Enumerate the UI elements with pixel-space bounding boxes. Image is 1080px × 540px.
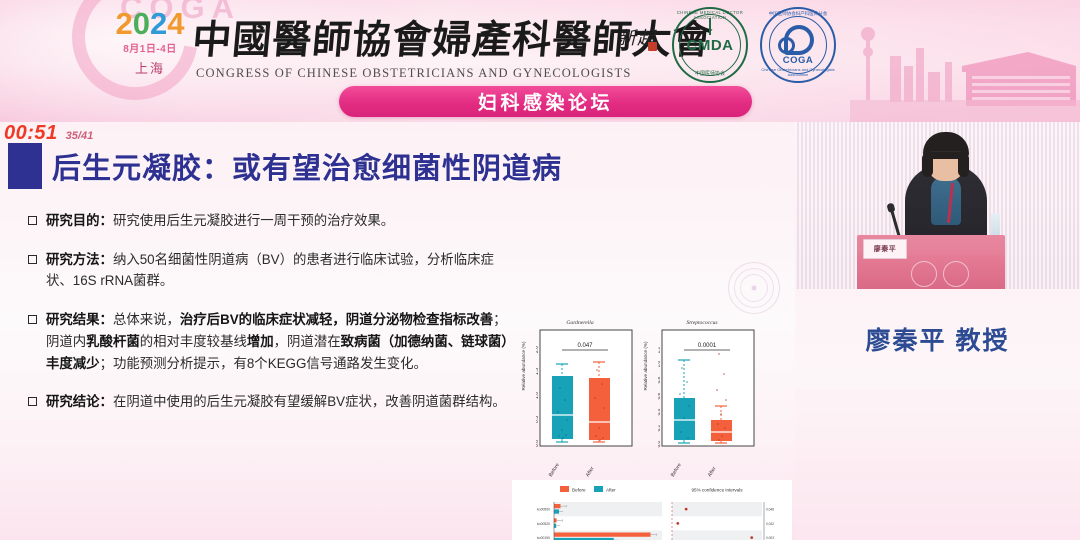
boxplot-gardnerella-title: Gardnerella: [520, 320, 640, 326]
svg-text:0.4: 0.4: [658, 409, 661, 416]
boxplot-streptococcus-title: Streptococcus: [642, 320, 762, 326]
bullet-square-icon: [28, 216, 37, 225]
bullet-label: 研究方法：: [46, 252, 113, 267]
bullet-emphasis: 治疗后BV的临床症状减轻，阴道分泌物检查指标改善: [180, 312, 493, 327]
speaker-glasses-icon: [931, 151, 961, 159]
year-logo: 2024 8月1日-4日 上海: [104, 8, 196, 77]
forum-title-text: 妇科感染论坛: [478, 88, 613, 115]
asclepius-rod-icon: [709, 18, 711, 35]
svg-text:0.0001: 0.0001: [698, 343, 717, 349]
svg-text:Before: Before: [572, 488, 586, 493]
cmda-logo: CHINESE MEDICAL DOCTOR ASSOCIATION CMDA …: [672, 7, 748, 83]
svg-text:After: After: [606, 488, 616, 493]
cmda-arc-bottom: 中国医师协会: [672, 70, 748, 77]
podium-nameplate-text: 廖秦平: [874, 244, 897, 254]
bullet-text: 研究目的：研究使用后生元凝胶进行一周干预的治疗效果。: [46, 210, 394, 232]
bullet-segment: ；功能预测分析提示，有8个KEGG信号通路发生变化。: [100, 356, 427, 371]
svg-text:1.0: 1.0: [536, 392, 540, 399]
slide-area: 00:51 35/41 后生元凝胶：或有望治愈细菌性阴道病 研究目的：研究使用后…: [0, 122, 795, 540]
bullet-segment: 研究使用后生元凝胶进行一周干预的治疗效果。: [113, 213, 394, 228]
boxplot-streptococcus-xtick-before: Before: [670, 462, 683, 478]
bullet-label: 研究目的：: [46, 213, 113, 228]
university-seal-icon: [728, 262, 780, 314]
bullet-segment: 的相对丰度较基线: [140, 334, 247, 349]
bullet-square-icon: [28, 315, 37, 324]
svg-text:0.2: 0.2: [658, 425, 661, 432]
slide-title-row: 后生元凝胶：或有望治愈细菌性阴道病: [8, 143, 562, 189]
bullet-segment: ，阴道潜在: [274, 334, 341, 349]
bullet-emphasis: 乳酸杆菌: [86, 334, 140, 349]
coga-arc-top: 中国医师协会妇产科医师分会: [760, 11, 836, 17]
bullet-square-icon: [28, 255, 37, 264]
boxplot-gardnerella: Gardnerella Relative abundance (%) 0.0 0…: [520, 318, 640, 478]
svg-text:2.0: 2.0: [536, 346, 540, 353]
svg-text:0.042: 0.042: [766, 522, 774, 526]
forum-title-banner: 妇科感染论坛: [339, 86, 752, 117]
cmda-arc-top: CHINESE MEDICAL DOCTOR ASSOCIATION: [672, 10, 748, 20]
bullet-text: 研究方法：纳入50名细菌性阴道病（BV）的患者进行临床试验，分析临床症状、16S…: [46, 249, 508, 292]
red-seal-icon: [648, 42, 657, 51]
title-accent-block-icon: [8, 143, 42, 189]
podium-face: [857, 255, 1005, 289]
bullet-segment: 总体来说，: [113, 312, 180, 327]
bullet-label: 研究结果：: [46, 312, 113, 327]
boxplot-figure: Gardnerella Relative abundance (%) 0.0 0…: [520, 318, 780, 478]
year-digits: 2024: [104, 8, 196, 39]
svg-text:ko00500: ko00500: [537, 508, 550, 512]
podium-seal-icon-1: [911, 261, 937, 287]
svg-text:ko00190: ko00190: [537, 536, 550, 540]
bullet-segment: 纳入50名细菌性阴道病（BV）的患者进行临床试验，分析临床症状、16S rRNA…: [46, 252, 494, 289]
bullet-item: 研究目的：研究使用后生元凝胶进行一周干预的治疗效果。: [28, 210, 508, 232]
year-digit-3: 2: [150, 6, 167, 41]
svg-text:0.0: 0.0: [658, 441, 661, 448]
podium-nameplate: 廖秦平: [863, 239, 907, 259]
bullet-text: 研究结论：在阴道中使用的后生元凝胶有望缓解BV症状，改善阴道菌群结构。: [46, 391, 506, 413]
coga-abbr: COGA: [760, 55, 836, 66]
svg-text:0.047: 0.047: [577, 343, 593, 349]
svg-text:0.8: 0.8: [658, 377, 661, 384]
shanghai-skyline-icon: [850, 0, 1080, 122]
svg-text:0.6: 0.6: [658, 393, 661, 400]
svg-text:0.5: 0.5: [536, 416, 540, 423]
svg-text:95% confidence intervals: 95% confidence intervals: [691, 488, 743, 493]
slide-counter: 35/41: [66, 130, 94, 142]
coga-arc-bottom: Chinese Obstetricians and Gynecologists …: [760, 67, 836, 77]
podium: 廖秦平: [857, 235, 1005, 289]
boxplot-gardnerella-plot: 0.0 0.5 1.0 1.5 2.0 0.047: [536, 328, 636, 456]
boxplot-streptococcus-plot: 0.0 0.2 0.4 0.6 0.8 1.0 1.2 0.0001: [658, 328, 758, 456]
speaker-video[interactable]: 廖秦平: [795, 122, 1080, 289]
speaker-panel-filler: [795, 389, 1080, 540]
boxplot-streptococcus: Streptococcus Relative abundance (%) 0.0…: [642, 318, 762, 478]
conference-title-en: CONGRESS OF CHINESE OBSTETRICIANS AND GY…: [196, 66, 631, 81]
conference-city: 上海: [104, 58, 196, 77]
water-bottle-icon: [991, 213, 1000, 237]
conference-title-cn: 中國醫師協會婦產科醫師大會: [191, 9, 665, 57]
bullet-label: 研究结论：: [46, 394, 113, 409]
bullet-item: 研究结果：总体来说，治疗后BV的临床症状减轻，阴道分泌物检查指标改善；阴道内乳酸…: [28, 309, 508, 374]
conference-banner: COGA 2024 8月1日-4日 上海 中國醫師協會婦產科醫師大會 新起 CO…: [0, 0, 1080, 122]
bullet-square-icon: [28, 397, 37, 406]
cmda-abbr: CMDA: [672, 37, 748, 54]
svg-text:ko00520: ko00520: [537, 522, 550, 526]
boxplot-gardnerella-xtick-after: After: [585, 466, 596, 478]
bullet-item: 研究方法：纳入50名细菌性阴道病（BV）的患者进行临床试验，分析临床症状、16S…: [28, 249, 508, 292]
page-title: 后生元凝胶：或有望治愈细菌性阴道病: [52, 145, 562, 187]
bullet-segment: 在阴道中使用的后生元凝胶有望缓解BV症状，改善阴道菌群结构。: [113, 394, 506, 409]
coga-logo: 中国医师协会妇产科医师分会 COGA Chinese Obstetricians…: [760, 7, 836, 83]
svg-text:0.003: 0.003: [766, 536, 774, 540]
svg-text:0.048: 0.048: [766, 508, 774, 512]
svg-text:1.5: 1.5: [536, 368, 540, 375]
bullet-list: 研究目的：研究使用后生元凝胶进行一周干预的治疗效果。研究方法：纳入50名细菌性阴…: [28, 210, 508, 430]
presentation-stream: COGA 2024 8月1日-4日 上海 中國醫師協會婦產科醫師大會 新起 CO…: [0, 0, 1080, 540]
boxplot-streptococcus-ylabel: Relative abundance (%): [643, 334, 648, 398]
podium-seal-icon-2: [943, 261, 969, 287]
bullet-text: 研究结果：总体来说，治疗后BV的临床症状减轻，阴道分泌物检查指标改善；阴道内乳酸…: [46, 309, 508, 374]
svg-text:0.0: 0.0: [536, 440, 540, 447]
elapsed-timer: 00:51: [4, 122, 58, 145]
kegg-pathway-plot: BeforeAfter95% confidence intervalsko005…: [512, 480, 792, 540]
boxplot-gardnerella-xtick-before: Before: [548, 462, 561, 478]
bullet-item: 研究结论：在阴道中使用的后生元凝胶有望缓解BV症状，改善阴道菌群结构。: [28, 391, 508, 413]
bullet-emphasis: 增加: [247, 334, 274, 349]
speaker-name-bar: 廖秦平 教授: [795, 289, 1080, 389]
speaker-panel: 廖秦平 廖秦平 教授: [795, 122, 1080, 540]
coga-child-icon: [778, 37, 795, 54]
svg-text:1.0: 1.0: [658, 361, 661, 368]
year-digit-1: 2: [116, 6, 133, 41]
year-digit-4: 4: [167, 6, 184, 41]
conference-dates: 8月1日-4日: [104, 40, 196, 55]
seal-center-dot: [752, 286, 757, 291]
speaker-scarf: [931, 177, 961, 225]
svg-text:1.2: 1.2: [658, 347, 661, 354]
kegg-pathway-figure: BeforeAfter95% confidence intervalsko005…: [512, 480, 792, 540]
year-digit-2: 0: [133, 6, 150, 41]
speaker-name: 廖秦平 教授: [866, 321, 1010, 357]
boxplot-streptococcus-xtick-after: After: [707, 466, 718, 478]
timer-row: 00:51 35/41: [4, 122, 93, 145]
boxplot-gardnerella-ylabel: Relative abundance (%): [521, 334, 526, 398]
